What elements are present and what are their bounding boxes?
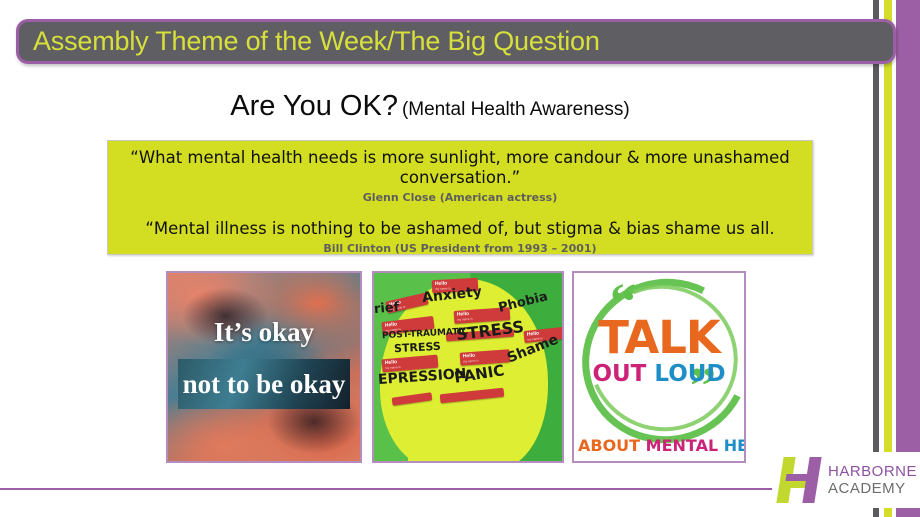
health-word: HEALTH	[724, 436, 746, 455]
quote-1-line-1: “What mental health needs is more sunlig…	[126, 148, 794, 168]
harborne-h-icon	[778, 457, 820, 503]
its-okay-band: not to be okay	[178, 359, 350, 409]
image-mental-health-labels[interactable]: Hello my name is Hello my name is Hello …	[372, 271, 564, 463]
brain-word-grief: rief	[373, 300, 400, 317]
page-title: Assembly Theme of the Week/The Big Quest…	[19, 26, 600, 57]
quote-1-line-2: conversation.”	[126, 168, 794, 188]
its-okay-line-1: It’s okay	[168, 317, 360, 348]
logo-line-academy: ACADEMY	[828, 480, 917, 497]
quote-box: “What mental health needs is more sunlig…	[107, 140, 813, 255]
out-loud-row: OUT LOUD	[574, 361, 744, 387]
mental-word: MENTAL	[646, 436, 719, 455]
quote-2-line: “Mental illness is nothing to be ashamed…	[126, 219, 794, 239]
brain-word-stress-small: STRESS	[394, 340, 441, 355]
title-banner: Assembly Theme of the Week/The Big Quest…	[16, 19, 896, 64]
subtitle-sub: (Mental Health Awareness)	[398, 99, 630, 120]
harborne-academy-logo: HARBORNE ACADEMY	[772, 452, 920, 508]
out-word: OUT	[592, 361, 646, 387]
neck-shape	[408, 407, 504, 463]
image-its-okay[interactable]: It’s okay not to be okay	[166, 271, 362, 463]
loud-word: LOUD	[654, 361, 725, 387]
its-okay-line-2: not to be okay	[183, 369, 346, 400]
about-mental-health-row: ABOUT MENTAL HEALTH	[578, 436, 740, 455]
about-word: ABOUT	[578, 436, 640, 455]
talk-word: TALK	[574, 311, 744, 364]
quote-2-attribution: Bill Clinton (US President from 1993 – 2…	[126, 241, 794, 256]
h-right-stroke	[802, 457, 821, 503]
edge-bar-gray	[873, 0, 879, 517]
footer-divider	[0, 488, 872, 490]
image-talk-out-loud[interactable]: “ ” TALK OUT LOUD ABOUT MENTAL HEALTH	[572, 271, 746, 463]
logo-text: HARBORNE ACADEMY	[828, 463, 917, 497]
edge-bar-lime	[884, 0, 892, 517]
slide: Assembly Theme of the Week/The Big Quest…	[0, 0, 920, 517]
logo-line-harborne: HARBORNE	[828, 463, 917, 480]
edge-bar-purple	[896, 0, 920, 517]
subtitle-row: Are You OK?(Mental Health Awareness)	[0, 90, 860, 123]
quote-1-attribution: Glenn Close (American actress)	[126, 190, 794, 205]
subtitle-main: Are You OK?	[230, 90, 398, 122]
